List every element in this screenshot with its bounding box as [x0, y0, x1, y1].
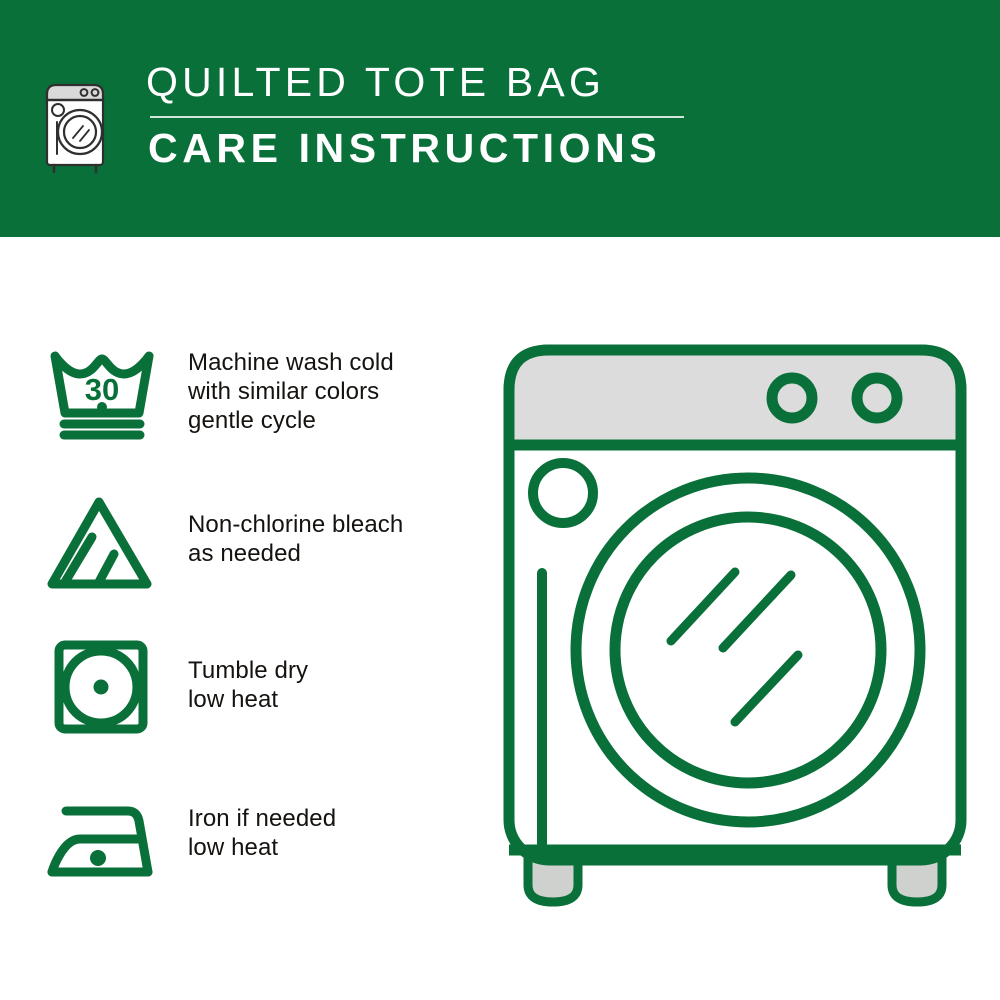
header-banner: QUILTED TOTE BAG CARE INSTRUCTIONS — [0, 0, 1000, 237]
iron-icon — [42, 776, 174, 898]
care-instruction-row: 30 Machine wash cold with similar colors… — [42, 332, 472, 480]
care-instruction-text: Iron if needed low heat — [188, 776, 336, 862]
care-instruction-text: Non-chlorine bleach as needed — [188, 480, 403, 568]
wash-temperature-label: 30 — [85, 372, 119, 407]
care-instruction-list: 30 Machine wash cold with similar colors… — [42, 332, 472, 924]
care-text-line: Machine wash cold — [188, 348, 394, 377]
page-subtitle: CARE INSTRUCTIONS — [148, 128, 684, 169]
care-instruction-text: Machine wash cold with similar colors ge… — [188, 332, 394, 435]
bleach-triangle-icon — [42, 480, 174, 596]
care-text-line: Tumble dry — [188, 656, 308, 685]
header-content: QUILTED TOTE BAG CARE INSTRUCTIONS — [42, 62, 684, 174]
header-title-group: QUILTED TOTE BAG CARE INSTRUCTIONS — [146, 62, 684, 169]
care-instruction-row: Non-chlorine bleach as needed — [42, 480, 472, 628]
care-text-line: gentle cycle — [188, 406, 394, 435]
care-instruction-text: Tumble dry low heat — [188, 628, 308, 714]
wash-tub-icon: 30 — [42, 332, 174, 440]
tumble-dry-icon — [42, 628, 174, 738]
care-text-line: low heat — [188, 685, 308, 714]
washing-machine-icon — [42, 70, 110, 174]
washing-machine-illustration — [495, 330, 975, 930]
care-text-line: Non-chlorine bleach — [188, 510, 403, 539]
care-instructions-infographic: QUILTED TOTE BAG CARE INSTRUCTIONS 30 — [0, 0, 1000, 1000]
page-title: QUILTED TOTE BAG — [146, 62, 684, 107]
care-instruction-row: Tumble dry low heat — [42, 628, 472, 776]
care-text-line: low heat — [188, 833, 336, 862]
care-text-line: with similar colors — [188, 377, 394, 406]
title-divider — [150, 116, 684, 118]
care-text-line: Iron if needed — [188, 804, 336, 833]
care-text-line: as needed — [188, 539, 403, 568]
care-instruction-row: Iron if needed low heat — [42, 776, 472, 924]
